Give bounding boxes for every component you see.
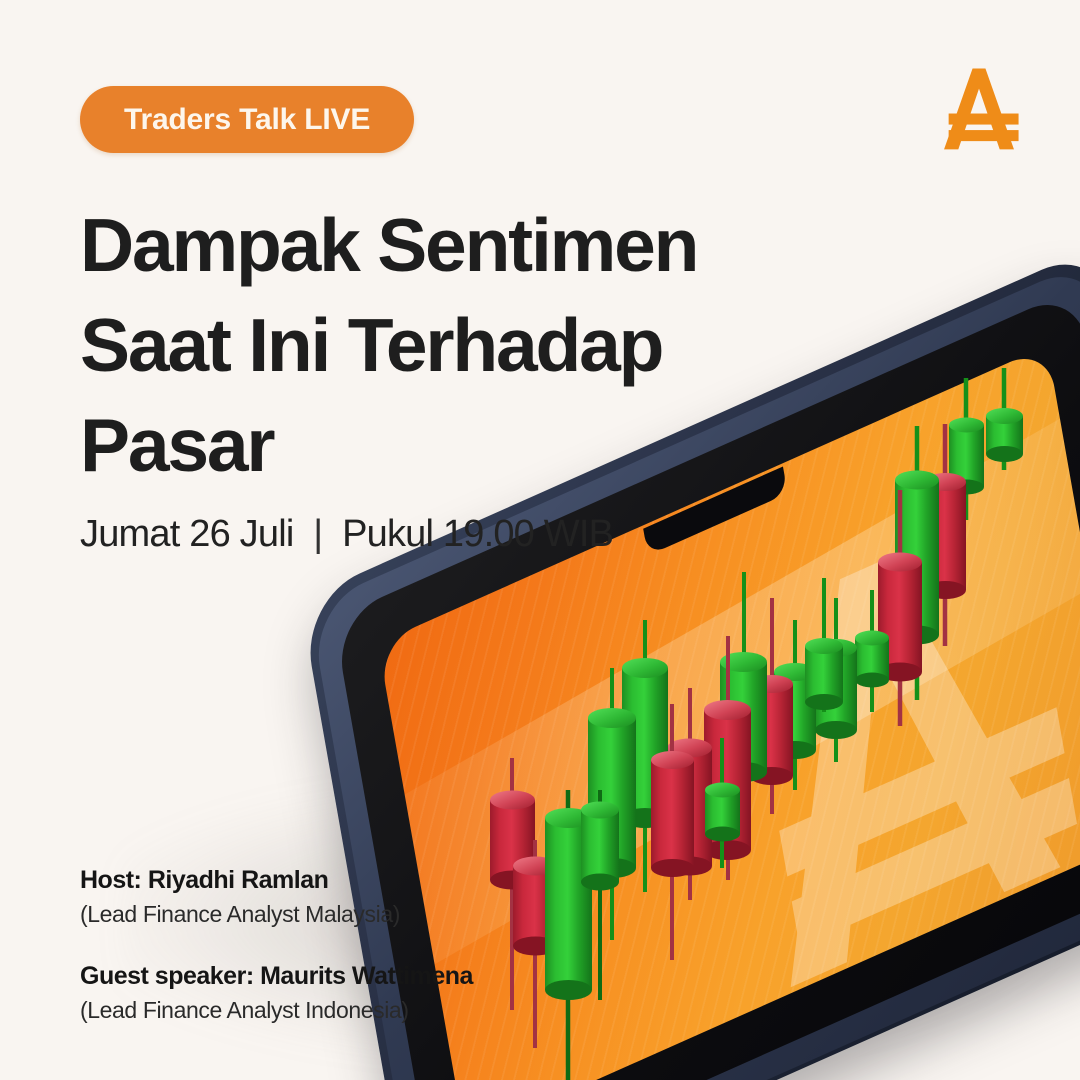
traders-talk-live-badge[interactable]: Traders Talk LIVE [80,86,414,153]
candle-7 [704,636,751,880]
candle-11 [774,620,816,790]
candle-17 [949,378,984,520]
candle-18 [986,368,1023,470]
candle-front-green-2 [581,790,619,1000]
candle-12 [815,598,857,762]
candle-6 [667,688,712,900]
candle-8 [720,572,767,810]
candle-front-green-1 [545,790,592,1080]
headline-line-3: Pasar [80,396,800,496]
candle-15 [895,426,939,700]
candle-3 [588,668,636,940]
ascend-a-currency-logo-icon [933,62,1025,154]
candle-14 [878,490,922,726]
credits-block: Host: Riyadhi Ramlan (Lead Finance Analy… [80,866,473,1024]
schedule-separator: | [313,513,322,556]
headline-line-1: Dampak Sentimen [80,196,800,296]
guest-name: Guest speaker: Maurits Wattimena [80,962,473,991]
candle-5 [705,738,740,868]
candle-9 [750,598,793,814]
schedule-date: Jumat 26 Juli [80,513,293,555]
host-credit: Host: Riyadhi Ramlan (Lead Finance Analy… [80,866,473,928]
schedule-time: Pukul 19.00 WIB [342,513,613,555]
headline-line-2: Saat Ini Terhadap [80,296,800,396]
screen-logo-watermark-icon [666,434,1080,1036]
candle-front-red-2 [513,840,558,1048]
guest-role: (Lead Finance Analyst Indonesia) [80,997,473,1024]
candle-front-red-1 [490,758,535,1010]
candle-4 [622,620,668,892]
schedule-line: Jumat 26 Juli | Pukul 19.00 WIB [80,513,613,556]
candle-10 [805,578,843,712]
candle-16 [925,424,966,646]
host-name: Host: Riyadhi Ramlan [80,866,473,895]
page-title: Dampak Sentimen Saat Ini Terhadap Pasar [80,196,800,495]
candle-2 [651,704,694,960]
guest-credit: Guest speaker: Maurits Wattimena (Lead F… [80,962,473,1024]
host-role: (Lead Finance Analyst Malaysia) [80,901,473,928]
candle-13 [855,590,889,712]
poster-canvas: Traders Talk LIVE Dampak Sentimen Saat I… [0,0,1080,1080]
